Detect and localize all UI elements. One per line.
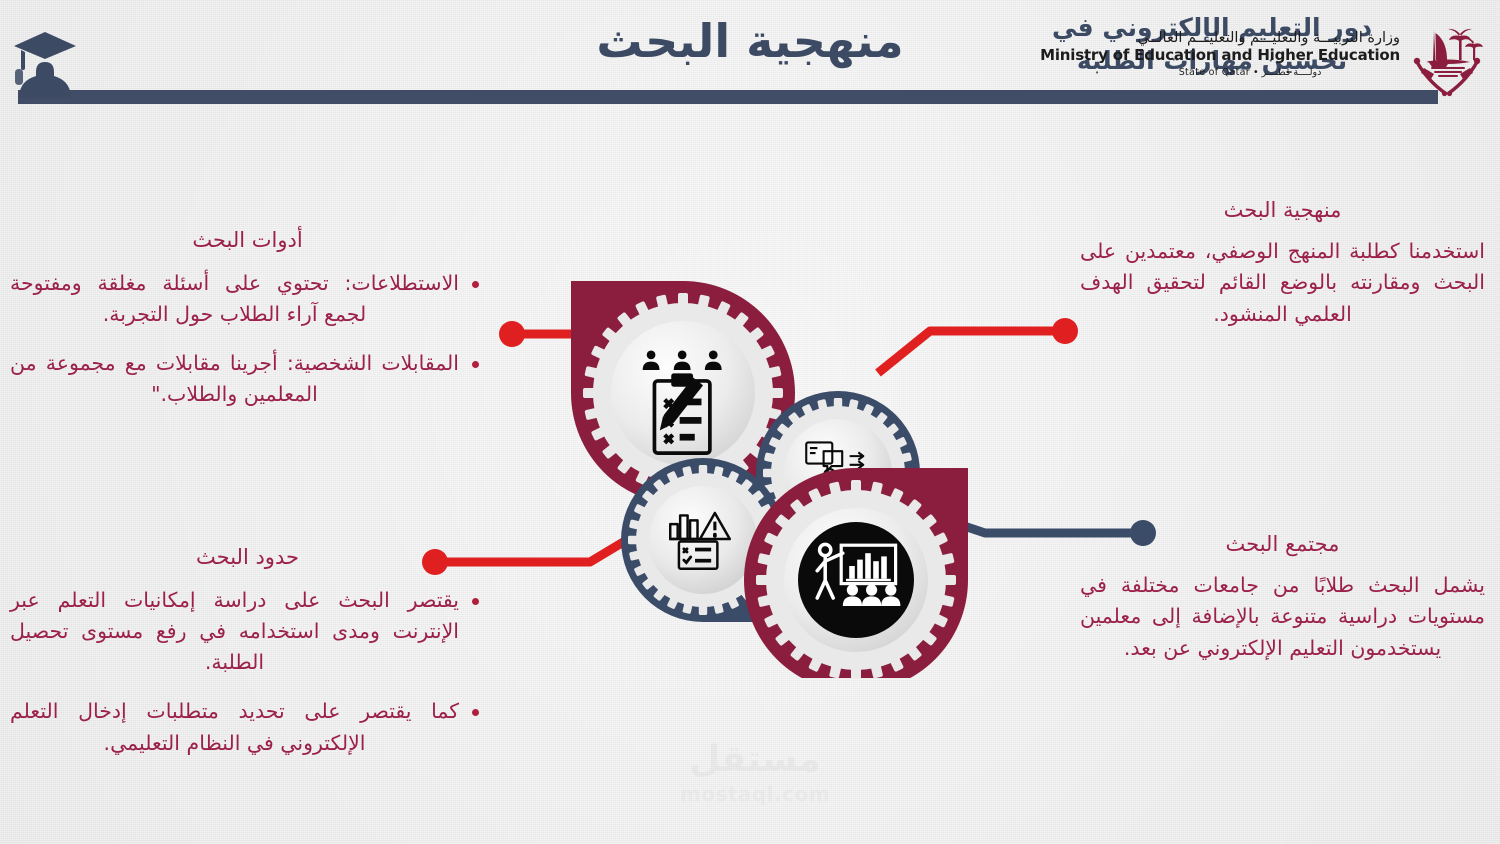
- heading-research-limits: حدود البحث: [10, 545, 485, 569]
- list-item: كما يقتصر على تحديد متطلبات إدخال التعلم…: [10, 696, 485, 758]
- text-research-population: يشمل البحث طلابًا من جامعات مختلفة في مس…: [1080, 570, 1485, 664]
- ministry-logo: وزارة التربيـــة والتعليـــم والتعليـــم…: [1092, 10, 1492, 102]
- heading-research-methodology: منهجية البحث: [1080, 198, 1485, 222]
- list-research-tools: الاستطلاعات: تحتوي على أسئلة مغلقة ومفتو…: [10, 268, 485, 411]
- list-research-limits: يقتصر البحث على دراسة إمكانيات التعلم عب…: [10, 585, 485, 759]
- watermark-arabic: مستقل: [645, 742, 865, 778]
- ministry-text: وزارة التربيـــة والتعليـــم والتعليـــم…: [1100, 30, 1400, 78]
- list-item: المقابلات الشخصية: أجرينا مقابلات مع مجم…: [10, 348, 485, 410]
- ministry-name-english: Ministry of Education and Higher Educati…: [1100, 47, 1400, 65]
- ministry-state-label: دولــــة قطــــر • State of Qatar: [1100, 67, 1400, 78]
- list-item: يقتصر البحث على دراسة إمكانيات التعلم عب…: [10, 585, 485, 678]
- slide-canvas: دور التعليم الإلكتروني في تحسين مهارات ا…: [0, 0, 1500, 844]
- block-research-population: مجتمع البحث يشمل البحث طلابًا من جامعات …: [1080, 532, 1485, 664]
- list-item: الاستطلاعات: تحتوي على أسئلة مغلقة ومفتو…: [10, 268, 485, 330]
- watermark-domain: mostaql.com: [645, 782, 865, 806]
- block-research-methodology: منهجية البحث استخدمنا كطلبة المنهج الوصف…: [1080, 198, 1485, 330]
- gear-cluster: [560, 278, 980, 678]
- heading-research-population: مجتمع البحث: [1080, 532, 1485, 556]
- ministry-name-arabic: وزارة التربيـــة والتعليـــم والتعليـــم…: [1100, 30, 1400, 47]
- block-research-tools: أدوات البحث الاستطلاعات: تحتوي على أسئلة…: [10, 228, 485, 429]
- mostaql-watermark: مستقل mostaql.com: [645, 742, 865, 822]
- survey-clipboard-people-icon: [643, 351, 722, 454]
- text-research-methodology: استخدمنا كطلبة المنهج الوصفي، معتمدين عل…: [1080, 236, 1485, 330]
- block-research-limits: حدود البحث يقتصر البحث على دراسة إمكانيا…: [10, 545, 485, 777]
- heading-research-tools: أدوات البحث: [10, 228, 485, 252]
- slide-header: دور التعليم الإلكتروني في تحسين مهارات ا…: [0, 0, 1500, 112]
- qatar-state-emblem-icon: [1404, 16, 1490, 102]
